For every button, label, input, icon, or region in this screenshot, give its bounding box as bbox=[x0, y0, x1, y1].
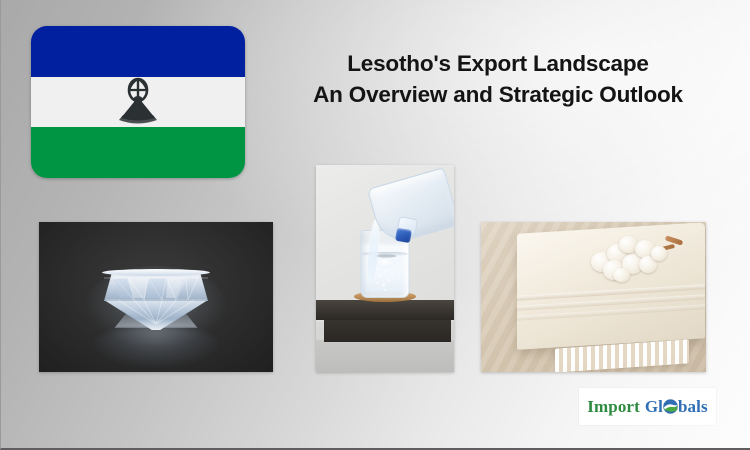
flag-band-green bbox=[31, 127, 245, 178]
logo-word-bals: bals bbox=[678, 397, 708, 417]
slide-title: Lesotho's Export Landscape An Overview a… bbox=[263, 48, 733, 110]
diamond-facet-lines bbox=[104, 272, 208, 328]
water-photo bbox=[316, 165, 454, 372]
diamond-floor-glow bbox=[93, 326, 219, 366]
diamond-photo bbox=[39, 222, 273, 372]
title-line-2: An Overview and Strategic Outlook bbox=[263, 79, 733, 110]
logo-wordmark: Import Gl bals bbox=[587, 397, 707, 417]
logo-word-gl: Gl bbox=[645, 397, 663, 417]
title-line-1: Lesotho's Export Landscape bbox=[263, 48, 733, 79]
textile-photo bbox=[481, 222, 706, 372]
water-photo-table-front bbox=[324, 318, 451, 342]
cotton-boll bbox=[613, 268, 630, 282]
water-splash bbox=[374, 258, 396, 268]
logo-word-import: Import bbox=[587, 397, 640, 417]
presentation-slide: Lesotho's Export Landscape An Overview a… bbox=[0, 0, 750, 450]
import-globals-logo[interactable]: Import Gl bals bbox=[579, 388, 716, 425]
flag-band-blue bbox=[31, 26, 245, 77]
lesotho-flag bbox=[31, 26, 245, 178]
globe-icon bbox=[663, 399, 678, 414]
cotton-boll bbox=[651, 246, 667, 261]
bottle-cap-blue bbox=[395, 228, 412, 243]
water-photo-floor bbox=[316, 340, 454, 372]
cotton-bolls bbox=[589, 232, 685, 288]
mokorotlo-hat-icon bbox=[115, 77, 161, 127]
water-photo-table-top bbox=[316, 300, 454, 320]
